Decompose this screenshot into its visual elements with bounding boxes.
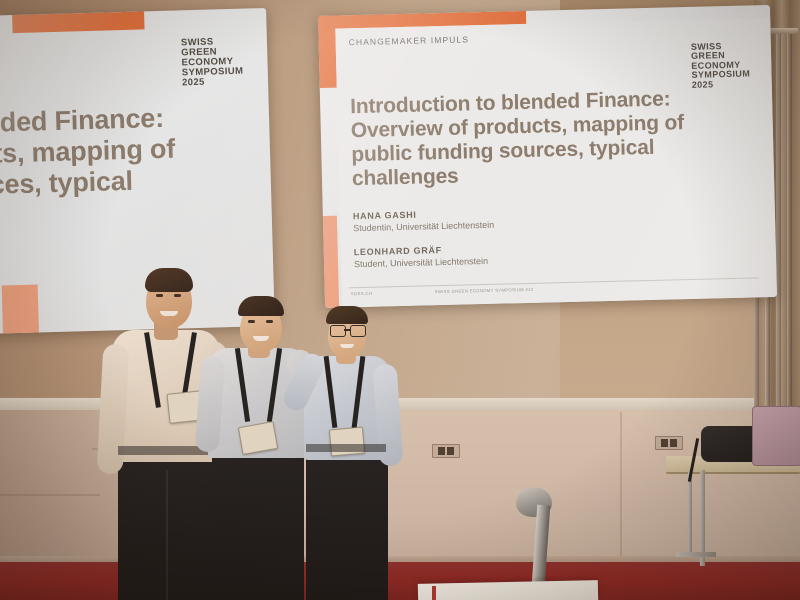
woman-center-hair-top [238,296,284,316]
curtain-fold-1 [787,34,792,452]
left-slide-accent-top [12,11,144,33]
table-leg-base [676,552,716,557]
right-slide-footer-left: SGES.CH [351,291,372,297]
logo-line-5: 2025 [182,77,244,89]
woman-right-legs [306,448,388,600]
woman-right-glasses-right-lens [350,325,366,337]
right-slide-title: Introduction to blended Finance: Overvie… [350,86,722,191]
conference-photo-scene: SWISS GREEN ECONOMY SYMPOSIUM 2025 blend… [0,0,800,600]
man-eye-left [156,294,163,297]
papers-foreground [418,580,598,600]
woman-center-eye-right [266,320,273,323]
woman-center-smile [253,336,269,341]
man-smile [160,311,178,316]
left-slide-logo: SWISS GREEN ECONOMY SYMPOSIUM 2025 [181,37,244,89]
man-leg-seam [166,470,168,600]
panel-seam-3 [0,494,100,496]
man-eye-right [174,294,181,297]
wall-outlet-right [655,436,683,450]
panel-seam-4 [620,412,622,560]
man-hair [145,268,193,292]
woman-right-belt [306,444,386,452]
speaker-2-name: LEONHARD GRÄF [354,245,442,257]
wall-outlet-left [432,444,460,458]
projection-screen-right: CHANGEMAKER IMPULS SWISS GREEN ECONOMY S… [318,5,777,308]
pink-suitcase [752,406,800,466]
speaker-1-name: HANA GASHI [353,210,417,222]
paper-red-stripe [432,586,436,600]
right-slide-logo: SWISS GREEN ECONOMY SYMPOSIUM 2025 [691,41,751,90]
left-title-line-3: ources, typical [0,161,275,201]
left-slide-title: blended Finance: ducts, mapping of ource… [0,100,275,201]
woman-center-eye-left [248,320,255,323]
woman-right-glasses-bridge [344,329,350,331]
right-slide-accent-lower-left [323,216,339,308]
woman-right-glasses-left-lens [330,325,346,337]
projection-screen-left: SWISS GREEN ECONOMY SYMPOSIUM 2025 blend… [0,8,275,335]
curtain-fold-2 [776,34,781,452]
right-slide-accent-left [318,16,337,88]
woman-right-hair-top [326,306,368,324]
woman-center-legs [212,440,304,600]
left-slide-accent-bottom [2,284,39,333]
woman-right-smile [340,344,354,348]
table-leg-back [688,470,692,554]
